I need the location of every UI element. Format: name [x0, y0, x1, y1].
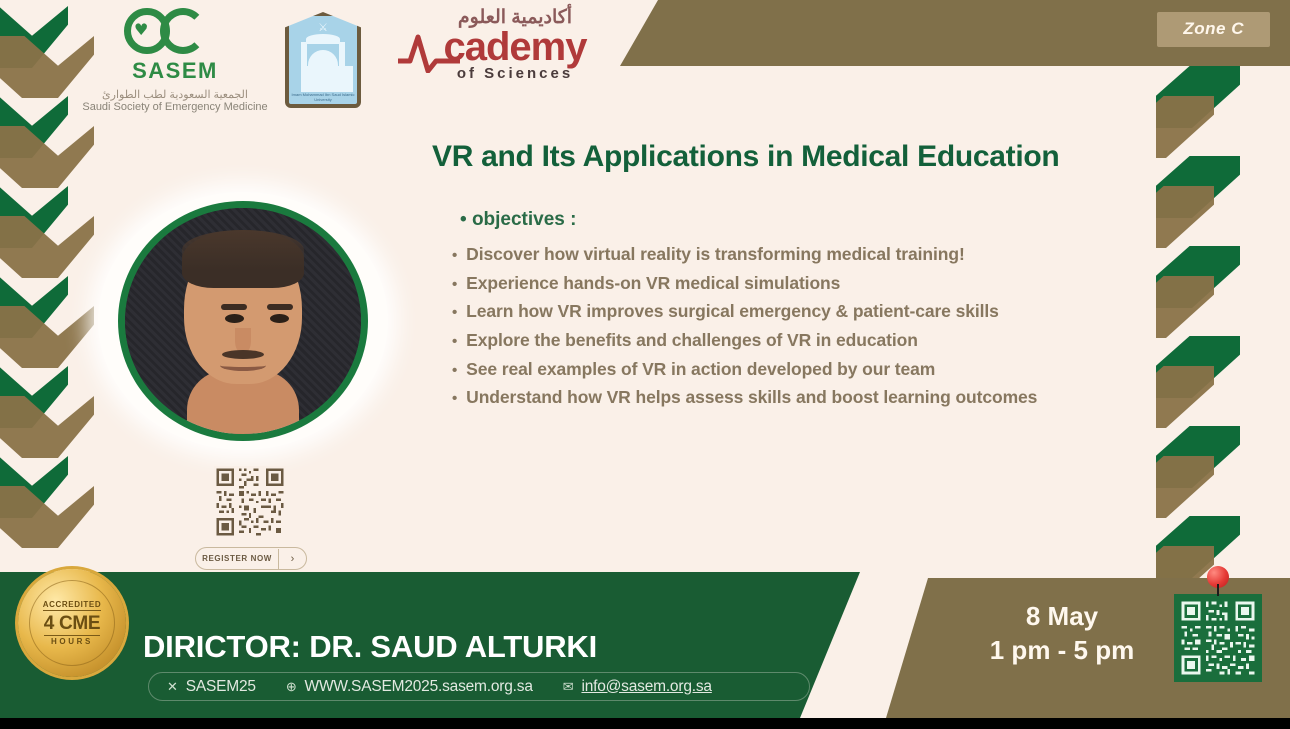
list-item-text: Explore the benefits and challenges of V…	[466, 326, 918, 355]
objectives-label: • objectives :	[460, 209, 576, 231]
globe-icon: ⊕	[286, 679, 297, 695]
contact-email-address: info@sasem.org.sa	[581, 678, 711, 696]
speaker-portrait-halo	[98, 192, 388, 450]
list-item: • Experience hands-on VR medical simulat…	[452, 269, 1212, 298]
bullet-icon: •	[452, 391, 457, 406]
x-twitter-icon: ✕	[167, 679, 178, 695]
page-title: VR and Its Applications in Medical Educa…	[432, 140, 1172, 174]
top-brown-bar: Zone C	[620, 0, 1290, 66]
register-now-button[interactable]: REGISTER NOW ›	[195, 547, 307, 570]
contact-website[interactable]: ⊕ WWW.SASEM2025.sasem.org.sa	[286, 678, 533, 696]
list-item-text: Understand how VR helps assess skills an…	[466, 383, 1037, 412]
bullet-icon: •	[452, 305, 457, 320]
university-crest-text: Imam Mohammad Ibn Saud Islamic Universit…	[289, 92, 357, 102]
event-poster: Zone C ♥ SASEM الجمعية السعودية لطب الطو…	[0, 0, 1290, 729]
contact-x-twitter[interactable]: ✕ SASEM25	[167, 678, 256, 696]
cme-hours-label: HOURS	[51, 637, 93, 646]
sasem-logo: ♥ SASEM الجمعية السعودية لطب الطوارئ Sau…	[80, 4, 270, 113]
book-icon	[306, 34, 340, 44]
event-time: 1 pm - 5 pm	[972, 634, 1152, 667]
location-qr-code[interactable]	[1174, 594, 1262, 682]
contact-bar: ✕ SASEM25 ⊕ WWW.SASEM2025.sasem.org.sa ✉…	[148, 672, 810, 701]
chevron-right-icon[interactable]: ›	[278, 549, 306, 569]
list-item-text: Learn how VR improves surgical emergency…	[466, 297, 999, 326]
dome-icon	[308, 50, 338, 66]
cme-accreditation-seal: ACCREDITED 4 CME HOURS	[18, 569, 126, 677]
speaker-photo	[125, 208, 361, 434]
objectives-list: • Discover how virtual reality is transf…	[452, 240, 1212, 412]
registration-block[interactable]: REGISTER NOW ›	[195, 466, 305, 570]
list-item-text: Experience hands-on VR medical simulatio…	[466, 269, 840, 298]
cme-hours-value: 4 CME	[44, 613, 101, 636]
register-now-label: REGISTER NOW	[196, 554, 278, 563]
bullet-icon: •	[452, 334, 457, 349]
event-date: 8 May	[972, 600, 1152, 633]
map-pin-icon	[1207, 566, 1229, 588]
location-qr-block[interactable]	[1174, 594, 1262, 682]
cme-accredited-label: ACCREDITED	[43, 600, 101, 611]
bullet-icon: •	[452, 363, 457, 378]
contact-website-url: WWW.SASEM2025.sasem.org.sa	[305, 678, 533, 696]
list-item: • Learn how VR improves surgical emergen…	[452, 297, 1212, 326]
university-crest-icon: ⚔ Imam Mohammad Ibn Saud Islamic Univers…	[285, 12, 361, 108]
list-item: • Understand how VR helps assess skills …	[452, 383, 1212, 412]
sasem-rings-icon: ♥	[80, 4, 270, 56]
bullet-icon: •	[452, 277, 457, 292]
list-item: • See real examples of VR in action deve…	[452, 355, 1212, 384]
envelope-icon: ✉	[563, 679, 574, 695]
academy-wordmark-text: cademy	[444, 25, 587, 69]
mosque-base-icon	[301, 66, 353, 92]
avatar	[118, 201, 368, 441]
ecg-icon: ♥	[134, 20, 148, 39]
bullet-icon: •	[452, 248, 457, 263]
director-name: DIRICTOR: DR. SAUD ALTURKI	[143, 629, 597, 665]
academy-wordmark: cademy	[400, 27, 630, 67]
contact-x-handle: SASEM25	[186, 678, 256, 696]
list-item: • Discover how virtual reality is transf…	[452, 240, 1212, 269]
logo-row: ♥ SASEM الجمعية السعودية لطب الطوارئ Sau…	[0, 0, 640, 120]
zone-badge: Zone C	[1157, 12, 1270, 47]
bottom-black-bar	[0, 718, 1290, 729]
sword-palm-icon: ⚔	[318, 21, 328, 34]
list-item-text: See real examples of VR in action develo…	[466, 355, 935, 384]
sasem-arabic-name: الجمعية السعودية لطب الطوارئ	[80, 88, 270, 101]
heartbeat-icon	[398, 33, 460, 73]
contact-email[interactable]: ✉ info@sasem.org.sa	[563, 678, 712, 696]
sasem-wordmark: SASEM	[80, 58, 270, 84]
objectives-bullet-icon: •	[460, 209, 467, 230]
registration-qr-code[interactable]	[214, 466, 286, 538]
list-item-text: Discover how virtual reality is transfor…	[466, 240, 965, 269]
objectives-label-text: objectives :	[472, 209, 577, 230]
cme-seal-inner: ACCREDITED 4 CME HOURS	[29, 580, 115, 666]
academy-of-sciences-logo: أكاديمية العلوم cademy of Sciences	[400, 6, 630, 82]
list-item: • Explore the benefits and challenges of…	[452, 326, 1212, 355]
event-datetime: 8 May 1 pm - 5 pm	[972, 600, 1152, 667]
sasem-english-name: Saudi Society of Emergency Medicine	[80, 101, 270, 113]
